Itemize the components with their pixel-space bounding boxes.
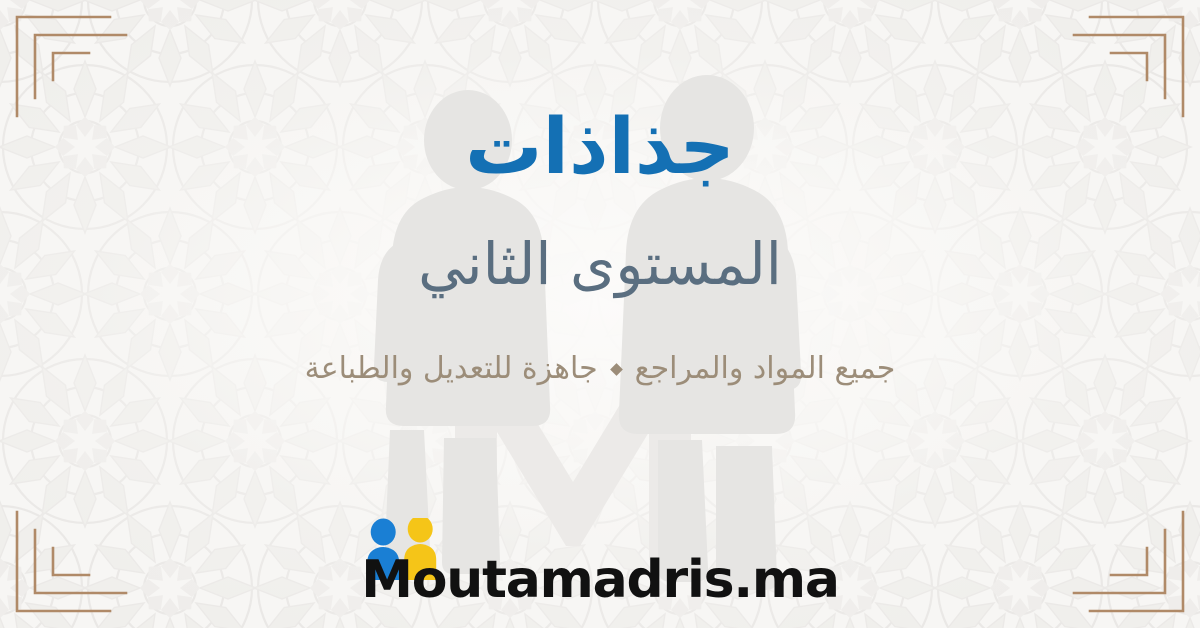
tagline-part-start: جميع المواد والمراجع: [635, 351, 896, 387]
site-logo[interactable]: Moutamadris.ma: [361, 554, 839, 606]
banner-content: جذاذات المستوى الثاني جميع المواد والمرا…: [0, 0, 1200, 628]
promotional-banner: جذاذات المستوى الثاني جميع المواد والمرا…: [0, 0, 1200, 628]
logo-wordmark: Moutamadris.ma: [361, 554, 839, 606]
tagline-separator-diamond-icon: [610, 363, 623, 376]
banner-subtitle: المستوى الثاني: [418, 231, 782, 297]
banner-headline: جذاذات: [465, 106, 735, 189]
banner-tagline: جميع المواد والمراجع جاهزة للتعديل والطب…: [305, 351, 896, 387]
tagline-part-end: جاهزة للتعديل والطباعة: [305, 351, 598, 387]
